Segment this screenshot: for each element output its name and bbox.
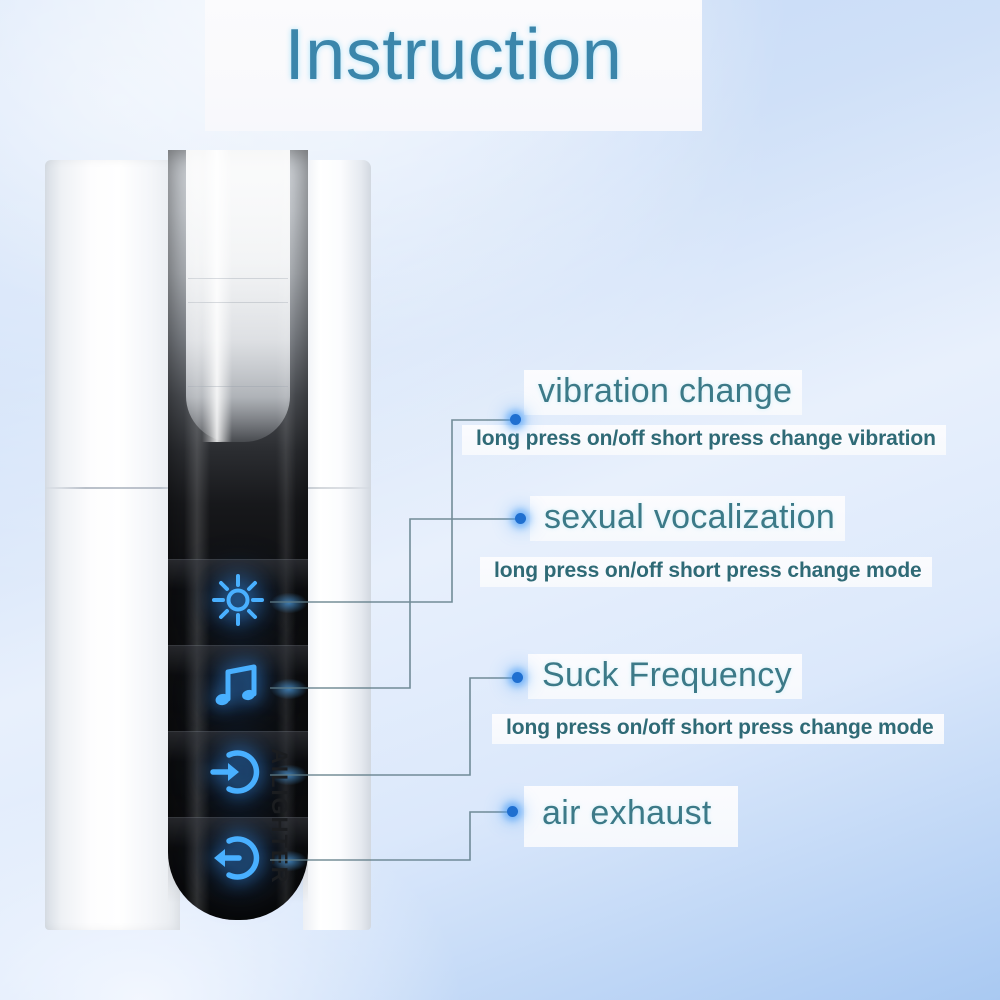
device-seam-right: [303, 487, 371, 489]
callout-dot-air-exhaust: [507, 806, 518, 817]
callout-panel: Suck Frequency: [528, 654, 802, 699]
callout-panel: long press on/off short press change vib…: [462, 425, 946, 455]
device-body-left: [45, 160, 180, 930]
callout-subtitle: long press on/off short press change vib…: [476, 427, 936, 451]
callout-panel: long press on/off short press change mod…: [480, 557, 932, 587]
callout-heading: vibration change: [538, 372, 792, 411]
callout-suck: Suck Frequency: [528, 654, 802, 699]
instruction-diagram: Instruction: [0, 0, 1000, 1000]
callout-vocalization: sexual vocalization: [530, 496, 845, 541]
callout-panel: sexual vocalization: [530, 496, 845, 541]
button-glow: [266, 590, 312, 616]
vibration-button[interactable]: [168, 559, 308, 645]
device-seam-left: [45, 487, 180, 489]
sun-vibration-icon: [210, 572, 266, 633]
callout-dot-vibration: [510, 414, 521, 425]
callout-subtitle: long press on/off short press change mod…: [494, 559, 922, 583]
translucent-sleeve: [186, 150, 290, 442]
callout-heading: Suck Frequency: [542, 656, 792, 695]
music-note-icon: [210, 658, 266, 719]
callout-dot-vocalization: [515, 513, 526, 524]
callout-vibration: vibration change: [524, 370, 802, 415]
device-illustration: AILIGHTER: [45, 150, 345, 940]
callout-suck-sub: long press on/off short press change mod…: [492, 714, 944, 744]
callout-heading: air exhaust: [542, 794, 712, 833]
sleeve-band-3: [188, 386, 288, 387]
callout-heading: sexual vocalization: [544, 498, 835, 537]
sleeve-band-1: [188, 278, 288, 279]
callout-panel: long press on/off short press change mod…: [492, 714, 944, 744]
callout-vibration-sub: long press on/off short press change vib…: [462, 425, 946, 455]
callout-vocalization-sub: long press on/off short press change mod…: [480, 557, 932, 587]
brand-label: AILIGHTER: [266, 748, 292, 908]
button-glow: [266, 676, 312, 702]
callout-panel: vibration change: [524, 370, 802, 415]
page-title: Instruction: [205, 14, 702, 96]
callout-subtitle: long press on/off short press change mod…: [506, 716, 934, 740]
callout-dot-suck: [512, 672, 523, 683]
callout-air-exhaust: air exhaust: [524, 786, 738, 847]
sleeve-band-2: [188, 302, 288, 303]
arrow-into-circle-icon: [209, 743, 267, 806]
device-body-right: [303, 160, 371, 930]
vocalization-button[interactable]: [168, 645, 308, 731]
callout-panel: air exhaust: [524, 786, 738, 847]
arrow-out-of-circle-icon: [209, 829, 267, 892]
